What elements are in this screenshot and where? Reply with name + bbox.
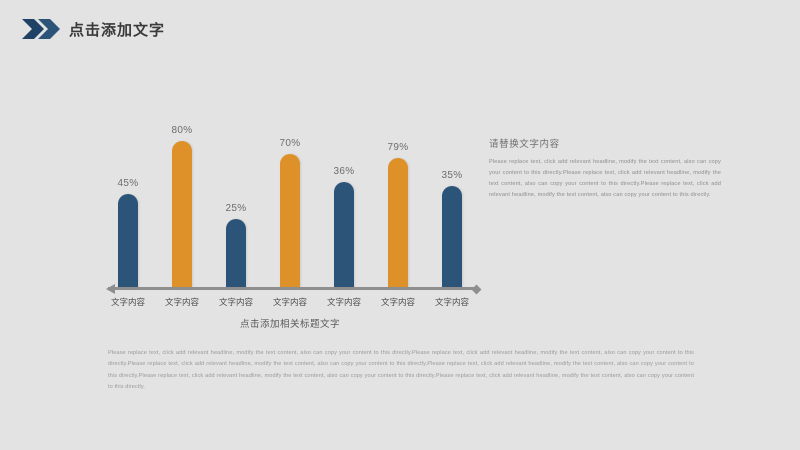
bar-column[interactable]: 35% <box>430 119 474 289</box>
x-axis-label: 文字内容 <box>376 296 420 308</box>
bar-1[interactable] <box>118 194 138 289</box>
x-axis-label: 文字内容 <box>322 296 366 308</box>
bottom-paragraph: Please replace text, click add relevant … <box>108 348 694 394</box>
x-axis-labels: 文字内容 文字内容 文字内容 文字内容 文字内容 文字内容 文字内容 <box>100 296 480 308</box>
bar-value-label: 35% <box>442 170 463 181</box>
bar-6[interactable] <box>388 158 408 289</box>
bar-7[interactable] <box>442 186 462 289</box>
bar-column[interactable]: 70% <box>268 119 312 289</box>
x-axis-label: 文字内容 <box>160 296 204 308</box>
double-chevron-icon <box>22 18 60 40</box>
bar-value-label: 25% <box>226 203 247 214</box>
x-axis-line <box>108 287 476 290</box>
side-panel-title: 请替换文字内容 <box>489 136 721 150</box>
chart-caption: 点击添加相关标题文字 <box>100 316 480 330</box>
slide-header: 点击添加文字 <box>22 18 165 40</box>
bar-value-label: 36% <box>334 166 355 177</box>
bar-2[interactable] <box>172 141 192 289</box>
bar-3[interactable] <box>226 219 246 289</box>
side-text-panel: 请替换文字内容 Please replace text, click add r… <box>489 136 721 201</box>
bar-column[interactable]: 45% <box>106 119 150 289</box>
bar-4[interactable] <box>280 154 300 289</box>
bar-column[interactable]: 80% <box>160 119 204 289</box>
bar-value-label: 79% <box>388 142 409 153</box>
bar-value-label: 80% <box>172 125 193 136</box>
bar-chart: 45% 80% 25% 70% 36% 79% <box>100 120 480 335</box>
side-panel-body: Please replace text, click add relevant … <box>489 157 721 201</box>
bar-column[interactable]: 79% <box>376 119 420 289</box>
bar-column[interactable]: 25% <box>214 119 258 289</box>
chart-plot-area: 45% 80% 25% 70% 36% 79% <box>100 120 480 290</box>
x-axis-label: 文字内容 <box>268 296 312 308</box>
x-axis-label: 文字内容 <box>106 296 150 308</box>
bar-value-label: 45% <box>118 178 139 189</box>
x-axis-label: 文字内容 <box>214 296 258 308</box>
bar-value-label: 70% <box>280 138 301 149</box>
bar-series: 45% 80% 25% 70% 36% 79% <box>100 119 480 289</box>
x-axis-label: 文字内容 <box>430 296 474 308</box>
bar-5[interactable] <box>334 182 354 289</box>
page-title: 点击添加文字 <box>69 19 165 40</box>
axis-arrow-left-icon <box>106 284 115 294</box>
bar-column[interactable]: 36% <box>322 119 366 289</box>
